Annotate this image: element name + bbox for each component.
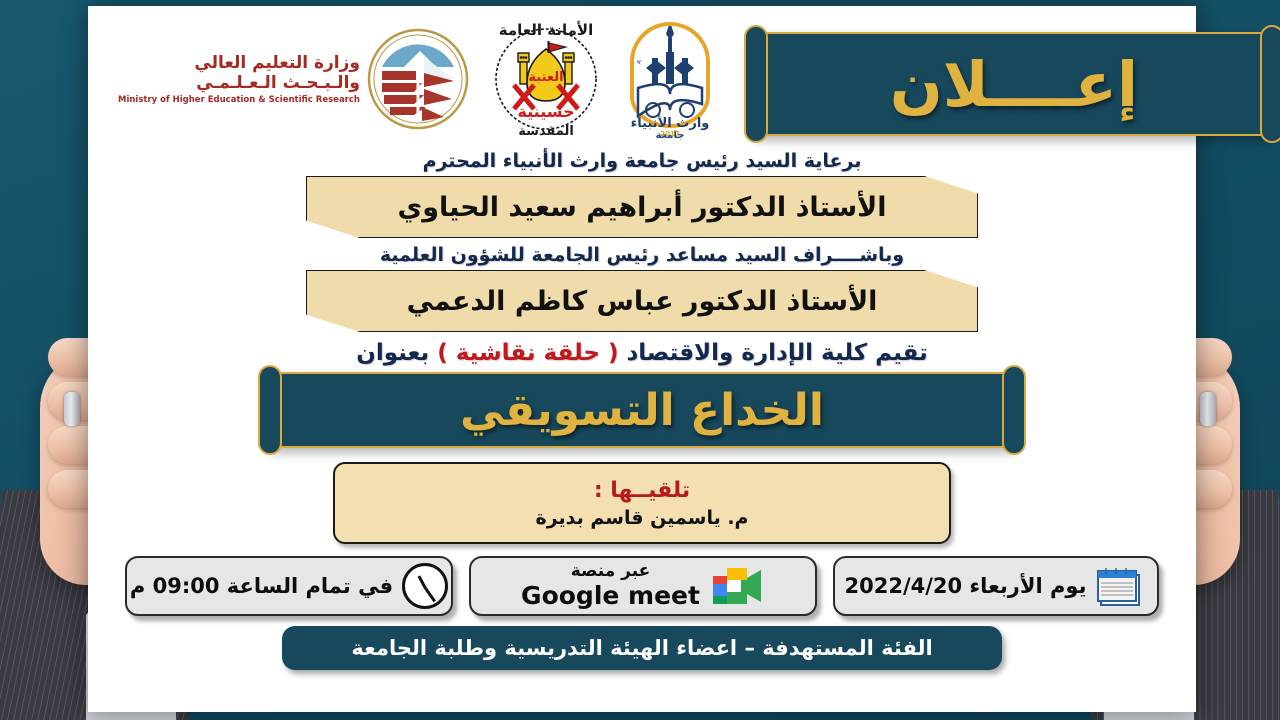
speaker-box: تلقيــها : م. ياسمين قاسم بديرة <box>333 462 951 544</box>
platform-line1: عبر منصة <box>521 562 700 581</box>
shrine-logo: الأمانة العامة <box>492 19 600 139</box>
supervisor-name-plate: الأستاذ الدكتور عباس كاظم الدعمي <box>306 270 978 332</box>
platform-box: عبر منصة Google meet <box>469 556 817 616</box>
date-box: يوم الأربعاء 2022/4/20 <box>833 556 1159 616</box>
announcement-header-banner: إعــــلان <box>754 32 1274 136</box>
poster-stage: وارث الأنبياء جامعة 2017 UNIVERSITY OF W… <box>0 0 1280 720</box>
supervisor-prefix: وباشــــراف السيد مساعد رئيس الجامعة للش… <box>106 244 1178 266</box>
google-meet-icon <box>709 564 765 608</box>
clock-icon <box>402 563 448 609</box>
announcement-poster: وارث الأنبياء جامعة 2017 UNIVERSITY OF W… <box>88 6 1196 712</box>
svg-text:2017: 2017 <box>660 130 680 138</box>
ministry-line-en: Ministry of Higher Education & Scientifi… <box>118 95 360 105</box>
announcement-header-text: إعــــلان <box>890 48 1138 121</box>
calendar-icon <box>1095 563 1147 609</box>
university-logo: وارث الأنبياء جامعة 2017 UNIVERSITY OF W… <box>622 18 718 140</box>
patron-name-plate: الأستاذ الدكتور أبراهيم سعيد الحياوي <box>306 176 978 238</box>
logo-row: وارث الأنبياء جامعة 2017 UNIVERSITY OF W… <box>106 14 1178 144</box>
ring-left <box>64 392 80 426</box>
ring-right <box>1200 392 1216 426</box>
event-line-after: بعنوان <box>356 340 437 366</box>
svg-text:الأمانة العامة: الأمانة العامة <box>499 21 593 39</box>
svg-text:وارث الأنبياء: وارث الأنبياء <box>631 114 710 131</box>
target-audience-bar: الفئة المستهدفة – اعضاء الهيئة التدريسية… <box>282 626 1002 670</box>
svg-text:العتبة: العتبة <box>528 70 563 85</box>
event-line-before: تقيم كلية الإدارة والاقتصاد <box>618 340 927 366</box>
main-title: الخداع التسويقي <box>460 385 824 436</box>
event-line-highlight: ( حلقة نقاشية ) <box>437 340 618 366</box>
event-line: تقيم كلية الإدارة والاقتصاد ( حلقة نقاشي… <box>106 340 1178 366</box>
target-audience-text: الفئة المستهدفة – اعضاء الهيئة التدريسية… <box>351 636 932 660</box>
patron-name: الأستاذ الدكتور أبراهيم سعيد الحياوي <box>397 192 886 223</box>
ministry-logo: وزارة التعليم العالي والـبـحـث الـعـلـمـ… <box>118 27 470 131</box>
main-title-banner: الخداع التسويقي <box>268 372 1016 448</box>
ministry-line2: والـبـحـث الـعـلـمـي <box>118 73 360 93</box>
info-strip: يوم الأربعاء 2022/4/20 عبر م <box>122 556 1162 616</box>
date-text: يوم الأربعاء 2022/4/20 <box>845 574 1087 598</box>
platform-line2: Google meet <box>521 582 700 610</box>
platform-text: عبر منصة Google meet <box>521 562 700 609</box>
svg-text:حسينية: حسينية <box>517 102 574 121</box>
time-text: في تمام الساعة 09:00 م <box>130 574 393 598</box>
patron-prefix: برعاية السيد رئيس جامعة وارث الأنبياء ال… <box>106 150 1178 172</box>
svg-text:المقدسة: المقدسة <box>518 124 574 139</box>
supervisor-name: الأستاذ الدكتور عباس كاظم الدعمي <box>407 286 878 317</box>
ministry-line1: وزارة التعليم العالي <box>118 53 360 73</box>
speaker-label: تلقيــها : <box>594 478 690 503</box>
time-box: في تمام الساعة 09:00 م <box>125 556 453 616</box>
speaker-name: م. ياسمين قاسم بديرة <box>536 507 749 529</box>
